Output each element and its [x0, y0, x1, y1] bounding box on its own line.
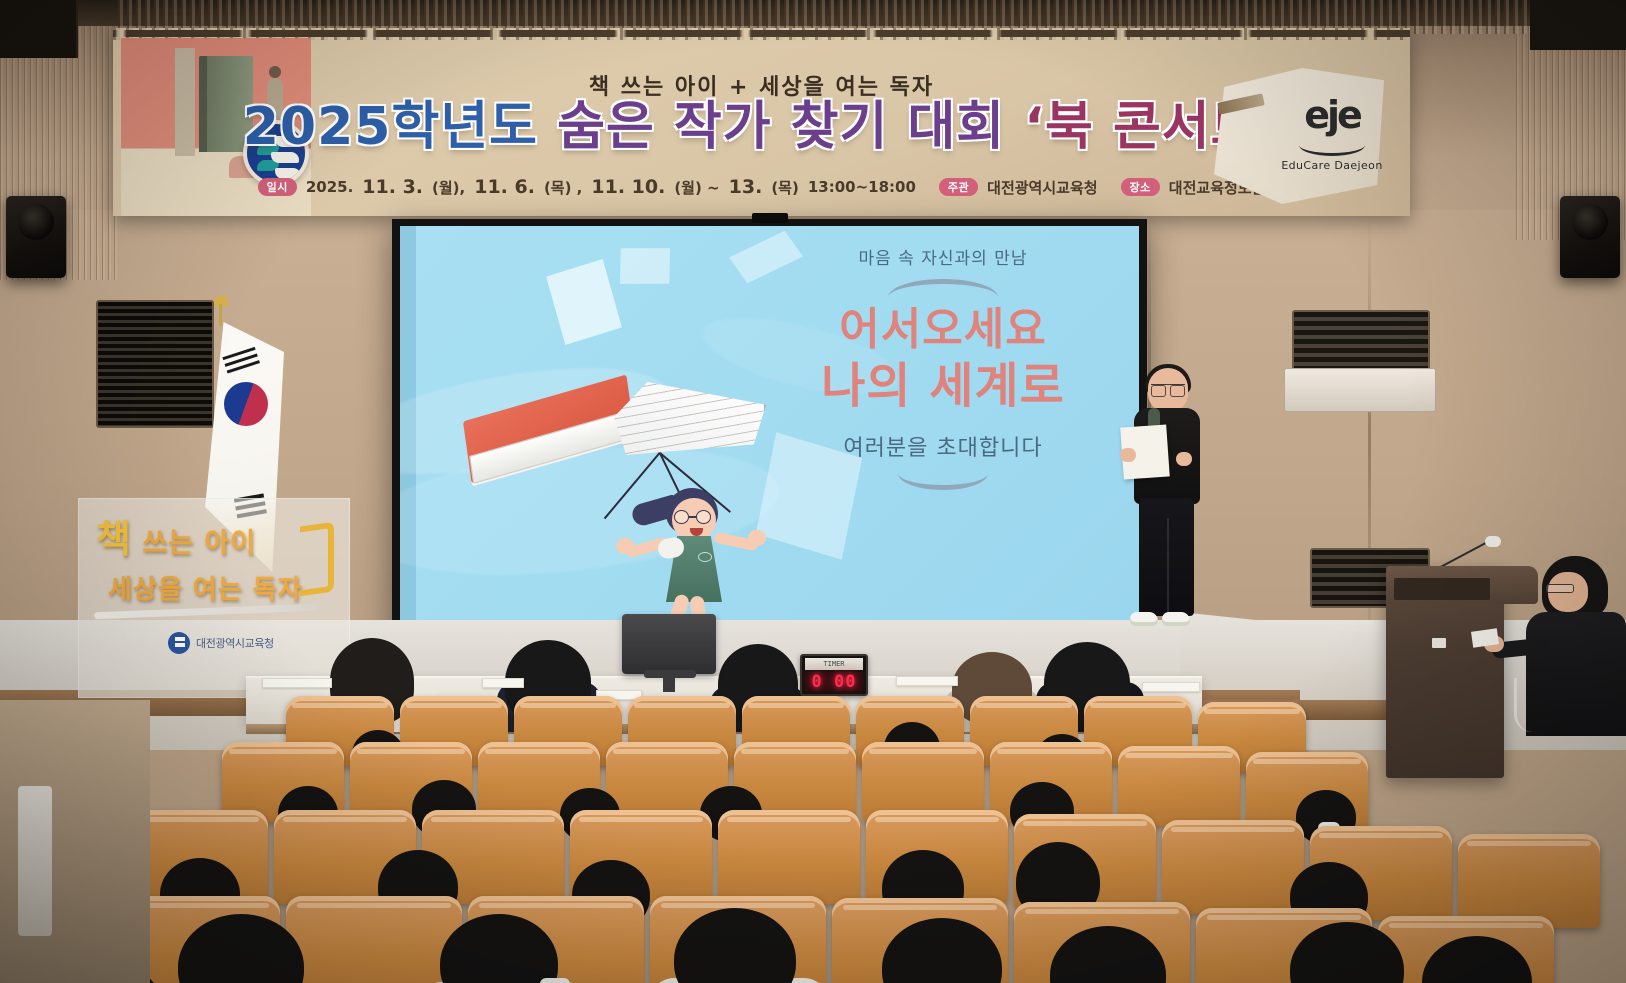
hair-scrunchie	[540, 978, 570, 983]
person-head	[882, 918, 1002, 983]
eje-smile-icon	[1299, 134, 1365, 156]
judge-papers	[482, 678, 524, 688]
ceiling-block-left	[0, 0, 78, 58]
banner-date-1-day: (월),	[432, 177, 465, 198]
banner-date-3-day: (월) ~	[674, 177, 719, 198]
judge-papers	[262, 678, 332, 688]
slide-text-block: 마음 속 자신과의 만남 어서오세요 나의 세계로 여러분을 초대합니다	[773, 244, 1113, 490]
girl-hand-right	[748, 530, 766, 546]
event-banner: 책 쓰는 아이 + 세상을 여는 독자 2025학년도 숨은 작가 찾기 대회 …	[113, 28, 1410, 216]
podium-front-inset	[1394, 578, 1490, 600]
audience-seating	[0, 690, 1626, 983]
banner-host-label: 주관	[939, 178, 978, 196]
audience-person	[1414, 936, 1548, 983]
plinth-org-name: 대전광역시교육청	[196, 635, 274, 651]
presentation-slide: 마음 속 자신과의 만남 어서오세요 나의 세계로 여러분을 초대합니다	[400, 226, 1139, 622]
banner-date-time: 13:00~18:00	[808, 178, 916, 196]
book-hang-glider-illustration	[464, 374, 764, 504]
presenter-hand-right	[1176, 452, 1192, 466]
person-head	[674, 908, 796, 983]
judge-monitor	[622, 614, 716, 674]
banner-host-value: 대전광역시교육청	[987, 177, 1097, 198]
gold-bracket-ornament-icon	[300, 522, 334, 597]
girl-glasses-icon	[673, 510, 717, 524]
banner-place-label: 장소	[1121, 178, 1160, 196]
timer-caption: TIMER	[805, 658, 863, 670]
judge-papers	[896, 676, 958, 686]
banner-date-2-day: (목) ,	[544, 177, 582, 198]
ceiling-speaker-right	[1560, 196, 1620, 278]
person-head	[1422, 936, 1532, 983]
banner-date-year: 2025.	[306, 178, 353, 196]
judge-monitor-base	[644, 670, 696, 678]
educare-daejeon-logo: eje EduCare Daejeon	[1214, 64, 1394, 214]
podium-mic-head-icon	[1485, 536, 1501, 547]
wall-vent-right-upper	[1292, 310, 1430, 372]
slide-book-curve-top-icon	[888, 279, 998, 301]
podium-badge	[1432, 638, 1446, 648]
slide-flying-paper	[615, 240, 676, 293]
audience-person	[430, 914, 570, 983]
book-pages-right	[614, 382, 766, 458]
plinth-org-logo: 대전광역시교육청	[168, 632, 274, 654]
slide-book-curve-bottom-icon	[898, 470, 988, 490]
audience-person	[1280, 922, 1418, 983]
banner-date-4-day: (목)	[771, 177, 799, 198]
audience-person	[1040, 926, 1180, 983]
audience-person	[664, 908, 808, 983]
presenter-shoe-left	[1130, 612, 1158, 626]
auditorium-photo: 책 쓰는 아이 + 세상을 여는 독자 2025학년도 숨은 작가 찾기 대회 …	[0, 0, 1626, 983]
girl-character	[614, 486, 764, 622]
audience-person	[870, 918, 1016, 983]
slide-headline-1: 어서오세요	[773, 305, 1113, 354]
girl-hand-left	[616, 538, 634, 554]
ceiling-block-right	[1530, 0, 1626, 50]
banner-date-1: 11. 3.	[362, 176, 423, 198]
seat[interactable]	[1458, 834, 1600, 928]
slide-headline-2: 나의 세계로	[773, 360, 1113, 414]
banner-title-main: 숨은 작가 찾기 대회	[557, 97, 1005, 157]
seat[interactable]	[718, 810, 860, 904]
staff-glasses-icon	[1546, 584, 1574, 593]
slide-kicker: 마음 속 자신과의 만남	[773, 244, 1113, 269]
slide-flying-paper	[545, 258, 623, 347]
gold-slogan-big-char: 책	[96, 517, 132, 561]
screen-mount	[752, 213, 788, 223]
wall-vent-left	[96, 300, 214, 428]
gold-slogan-line1-rest: 쓰는 아이	[142, 528, 256, 559]
presenter-legs	[1140, 498, 1194, 616]
air-conditioner-unit	[1284, 368, 1436, 412]
timer-digits: 0 00	[805, 672, 863, 691]
banner-date-3: 11. 10.	[591, 176, 665, 198]
presenter-hand-left	[1120, 448, 1136, 462]
projection-screen: 마음 속 자신과의 만남 어서오세요 나의 세계로 여러분을 초대합니다	[392, 219, 1147, 632]
banner-date-2: 11. 6.	[474, 176, 535, 198]
person-head	[1050, 926, 1166, 983]
student-presenter	[1118, 368, 1210, 640]
person-head	[178, 914, 304, 983]
banner-title-year: 2025학년도	[243, 97, 538, 157]
aisle-rail	[18, 786, 52, 936]
person-head	[1290, 922, 1404, 983]
person-head	[440, 914, 558, 983]
slide-footer: 여러분을 초대합니다	[773, 430, 1113, 462]
flagpole	[219, 304, 222, 326]
eje-logo-caption: EduCare Daejeon	[1274, 159, 1390, 172]
seat[interactable]	[1162, 820, 1304, 914]
banner-date-4: 13.	[729, 176, 763, 198]
eje-logo-glyph: eje	[1274, 96, 1390, 134]
timer-value: 0 00	[812, 672, 857, 692]
girl-bow-icon	[698, 552, 712, 562]
daejeon-edu-mark-icon	[168, 632, 190, 654]
audience-person	[168, 914, 318, 983]
presenter-shoe-right	[1162, 612, 1190, 626]
presenter-glasses-icon	[1151, 384, 1185, 394]
ceiling-speaker-left	[6, 196, 66, 278]
eje-mark: eje EduCare Daejeon	[1274, 96, 1390, 174]
banner-date-label: 일시	[258, 178, 297, 196]
